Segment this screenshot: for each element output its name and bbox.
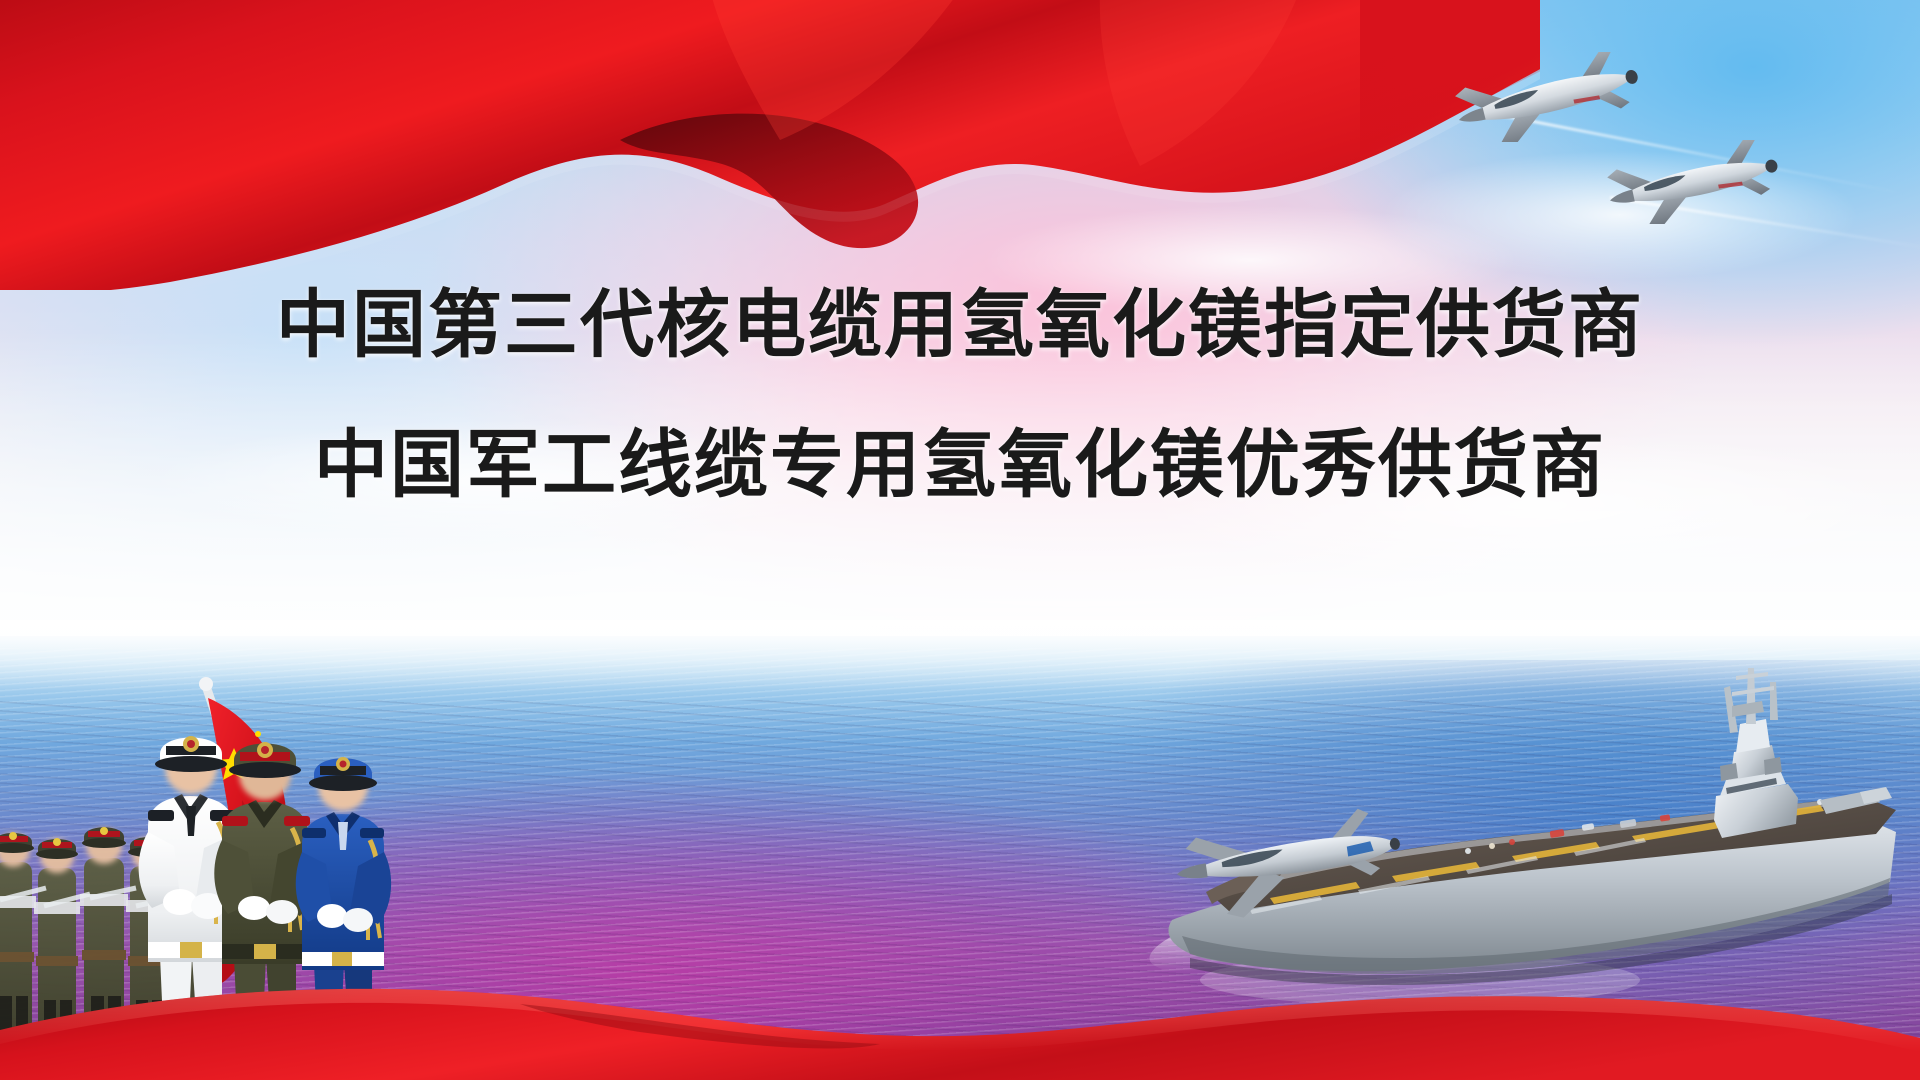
- aircraft-carrier: [1120, 620, 1920, 1080]
- headline-line-2: 中国军工线缆专用氢氧化镁优秀供货商: [0, 428, 1920, 502]
- fighter-jet-wing: [1605, 140, 1780, 224]
- headline-line-1: 中国第三代核电缆用氢氧化镁指定供货商: [0, 288, 1920, 362]
- fighter-jet-lead: [1452, 52, 1642, 142]
- red-flag-drape: [0, 0, 1540, 290]
- poster-canvas: 中国第三代核电缆用氢氧化镁指定供货商 中国军工线缆专用氢氧化镁优秀供货商: [0, 0, 1920, 1080]
- honor-guard-group: [0, 650, 510, 1080]
